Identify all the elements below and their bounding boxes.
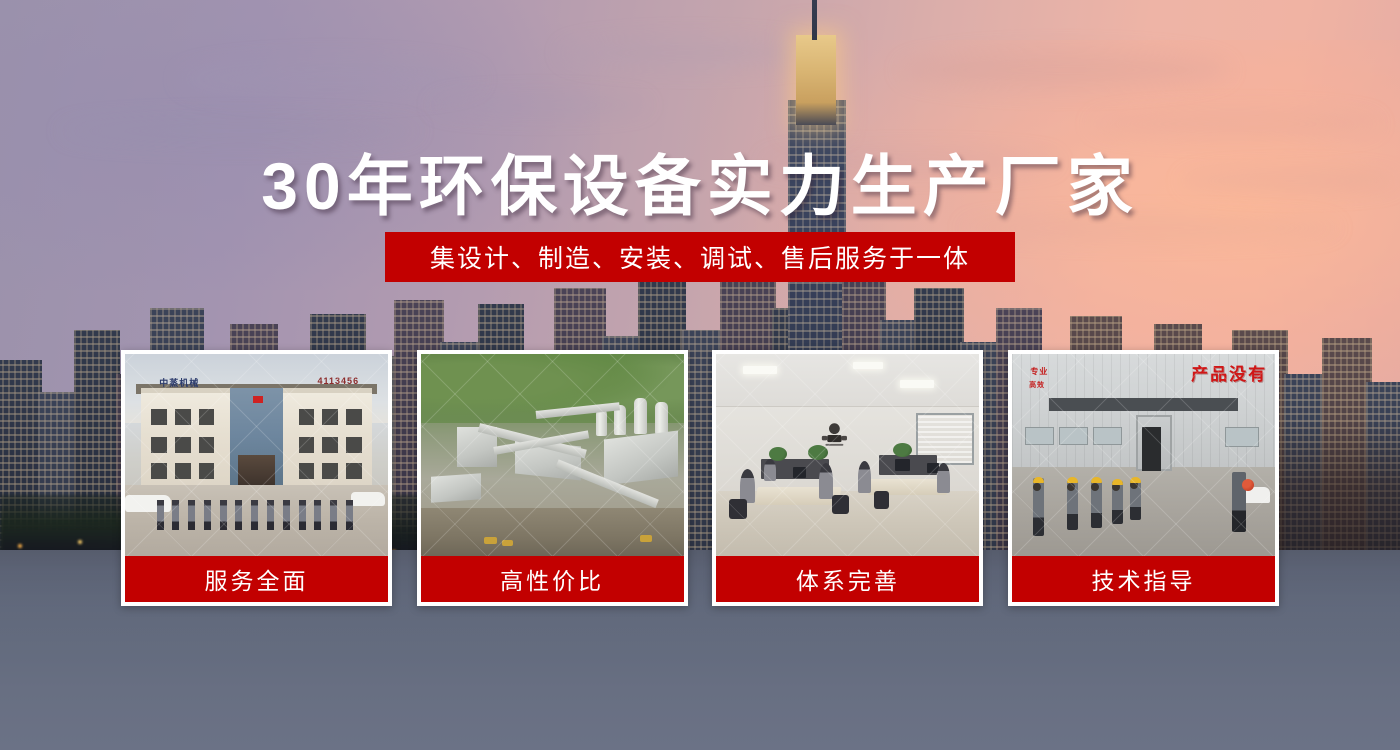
feature-card-value[interactable]: 高性价比: [417, 350, 688, 606]
tower-antenna: [812, 0, 817, 40]
card-label-guidance: 技术指导: [1012, 556, 1275, 602]
page-title: 30年环保设备实力生产厂家: [0, 133, 1400, 229]
promo-banner: 30年环保设备实力生产厂家 集设计、制造、安装、调试、售后服务于一体: [0, 0, 1400, 750]
feature-card-list: 中蒸机械 4113456: [121, 350, 1279, 606]
subtitle-banner: 集设计、制造、安装、调试、售后服务于一体: [385, 232, 1015, 282]
building-phone-text: 4113456: [318, 376, 360, 386]
card-label-value: 高性价比: [421, 556, 684, 602]
factory-slogan-small-1: 专业: [1030, 366, 1048, 377]
wall-decal: [816, 417, 853, 449]
subtitle-text: 集设计、制造、安装、调试、售后服务于一体: [430, 239, 970, 275]
company-headquarters-photo: 中蒸机械 4113456: [125, 354, 388, 556]
office-interior-photo: [716, 354, 979, 556]
factory-slogan-small-2: 高效: [1029, 380, 1045, 390]
building-sign-text: 中蒸机械: [159, 376, 199, 389]
tower-crown-lights: [796, 35, 836, 125]
workers-training-photo: 产品没有 专业 高效: [1012, 354, 1275, 556]
card-label-service: 服务全面: [125, 556, 388, 602]
feature-card-system[interactable]: 体系完善: [712, 350, 983, 606]
feature-card-guidance[interactable]: 产品没有 专业 高效: [1008, 350, 1279, 606]
feature-card-service[interactable]: 中蒸机械 4113456: [121, 350, 392, 606]
industrial-plant-aerial-photo: [421, 354, 684, 556]
factory-wall-slogan: 产品没有: [1191, 360, 1267, 385]
card-label-system: 体系完善: [716, 556, 979, 602]
